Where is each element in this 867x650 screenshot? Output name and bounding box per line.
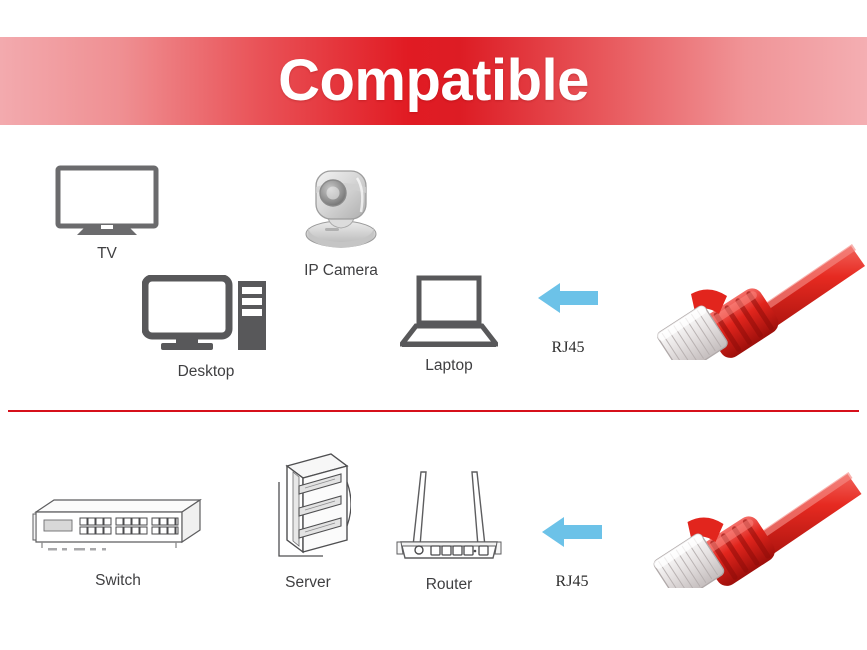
device-node-desktop: Desktop — [142, 275, 270, 381]
rj45-cable-icon — [650, 468, 865, 593]
device-label-router: Router — [426, 576, 473, 594]
rj45-cable-top — [655, 240, 867, 365]
rj45-label-top: RJ45 — [552, 339, 585, 357]
device-node-ip-camera: IP Camera — [295, 160, 387, 280]
rj45-cable-bottom — [650, 468, 865, 593]
device-node-server: Server — [265, 452, 351, 592]
device-label-desktop: Desktop — [178, 363, 235, 381]
device-label-server: Server — [285, 574, 331, 592]
rj45-label-bottom: RJ45 — [556, 573, 589, 591]
laptop-icon — [400, 275, 498, 352]
router-icon — [395, 462, 503, 571]
device-label-tv: TV — [97, 245, 117, 263]
device-node-router: Router — [395, 462, 503, 594]
device-node-tv: TV — [55, 165, 159, 263]
device-label-laptop: Laptop — [425, 357, 472, 375]
tv-icon — [55, 165, 159, 240]
page-title: Compatible — [278, 52, 589, 110]
rj45-cable-icon — [655, 240, 867, 365]
arrow-left-icon — [540, 512, 604, 557]
device-node-switch: Switch — [32, 490, 204, 590]
arrow-left-icon — [536, 278, 600, 323]
server-rack-icon — [265, 452, 351, 569]
compatible-banner: Compatible — [0, 37, 867, 125]
rj45-connector-top: RJ45 — [536, 278, 600, 357]
device-label-ip-camera: IP Camera — [304, 262, 378, 280]
device-label-switch: Switch — [95, 572, 141, 590]
device-node-laptop: Laptop — [400, 275, 498, 375]
desktop-icon — [142, 275, 270, 358]
ip-camera-icon — [295, 160, 387, 257]
rj45-connector-bottom: RJ45 — [540, 512, 604, 591]
section-divider — [8, 410, 859, 412]
network-switch-icon — [32, 490, 204, 567]
